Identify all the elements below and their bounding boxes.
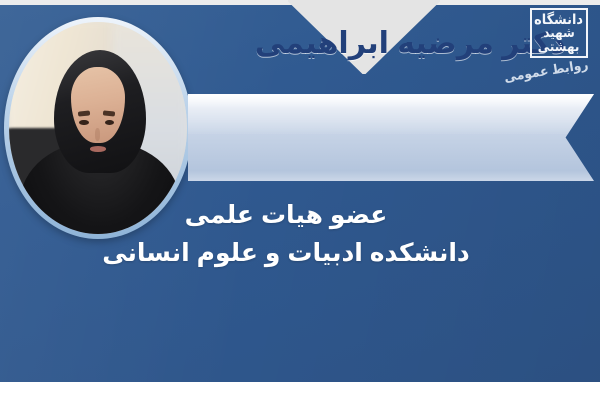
person-eye-left [79, 120, 88, 125]
name-ribbon-banner [188, 94, 594, 181]
subtitle-line-role: عضو هیات علمی [0, 196, 572, 234]
logo-line-3: بهشتی [538, 40, 580, 54]
logo-line-2: شهید [543, 26, 574, 40]
university-logo: دانشگاه شهید بهشتی روابط عمومی [498, 6, 594, 92]
person-eye-right [105, 120, 114, 125]
subtitle-block: عضو هیات علمی دانشکده ادبیات و علوم انسا… [0, 196, 600, 272]
faculty-profile-card: دکتر مرضیه ابراهیمی عضو هیات علمی دانشکد… [0, 0, 600, 400]
ribbon-sheen [188, 94, 594, 134]
person-mouth [90, 146, 106, 152]
bottom-edge-strip [0, 382, 600, 400]
person-nose [95, 128, 100, 141]
logo-emblem-box: دانشگاه شهید بهشتی [530, 8, 588, 58]
subtitle-line-faculty: دانشکده ادبیات و علوم انسانی [0, 234, 572, 272]
logo-line-1: دانشگاه [535, 12, 584, 26]
